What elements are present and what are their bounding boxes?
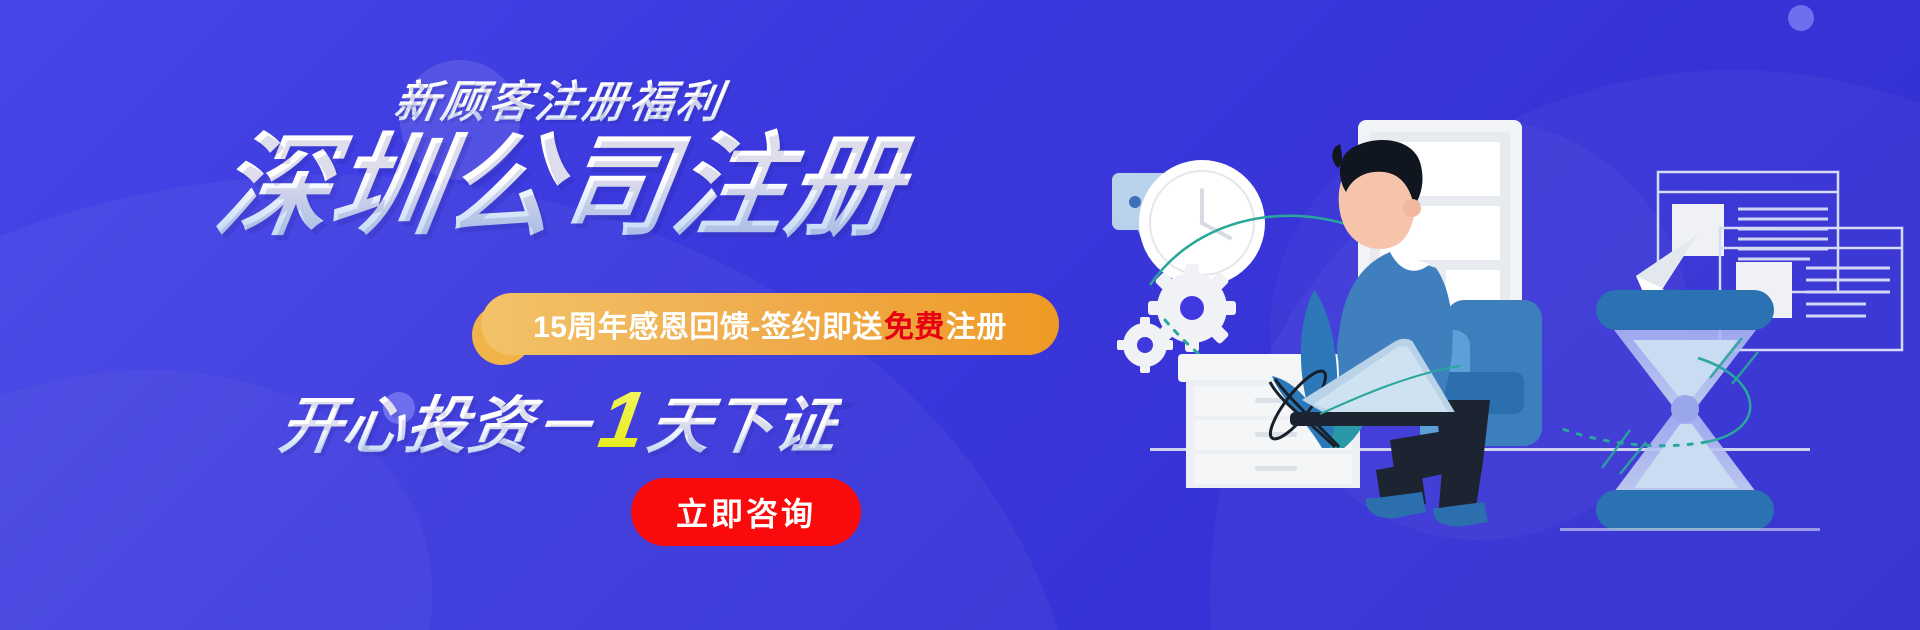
hero-illustration — [1090, 0, 1920, 630]
promo-badge-text: 15周年感恩回馈-签约即送免费注册 — [533, 302, 1007, 346]
hourglass-icon — [1560, 290, 1774, 530]
base-line-right — [1560, 528, 1820, 531]
document-card-top-lines — [1738, 209, 1828, 259]
clock-icon — [1139, 160, 1265, 286]
tagline-lead: 开心投资－ — [275, 392, 601, 461]
promo-banner: 新顾客注册福利 深圳公司注册 15周年感恩回馈-签约即送免费注册 开心投资－1天… — [0, 0, 1920, 630]
promo-badge-prefix: 15周年感恩回馈-签约即送 — [533, 311, 883, 344]
tagline-trail: 天下证 — [643, 392, 843, 461]
page-title: 深圳公司注册 — [0, 128, 1129, 246]
promo-badge: 15周年感恩回馈-签约即送免费注册 — [481, 293, 1059, 355]
promo-badge-highlight: 免费 — [883, 311, 946, 344]
banner-copy-column: 新顾客注册福利 深圳公司注册 15周年感恩回馈-签约即送免费注册 开心投资－1天… — [0, 0, 1120, 630]
tagline: 开心投资－1天下证 — [0, 374, 1127, 466]
promo-badge-suffix: 注册 — [946, 311, 1007, 344]
eyebrow-text: 新顾客注册福利 — [0, 66, 1125, 130]
document-card-bottom-lines — [1806, 268, 1890, 316]
consult-now-button-label: 立即咨询 — [676, 489, 816, 535]
consult-now-button[interactable]: 立即咨询 — [631, 478, 861, 546]
